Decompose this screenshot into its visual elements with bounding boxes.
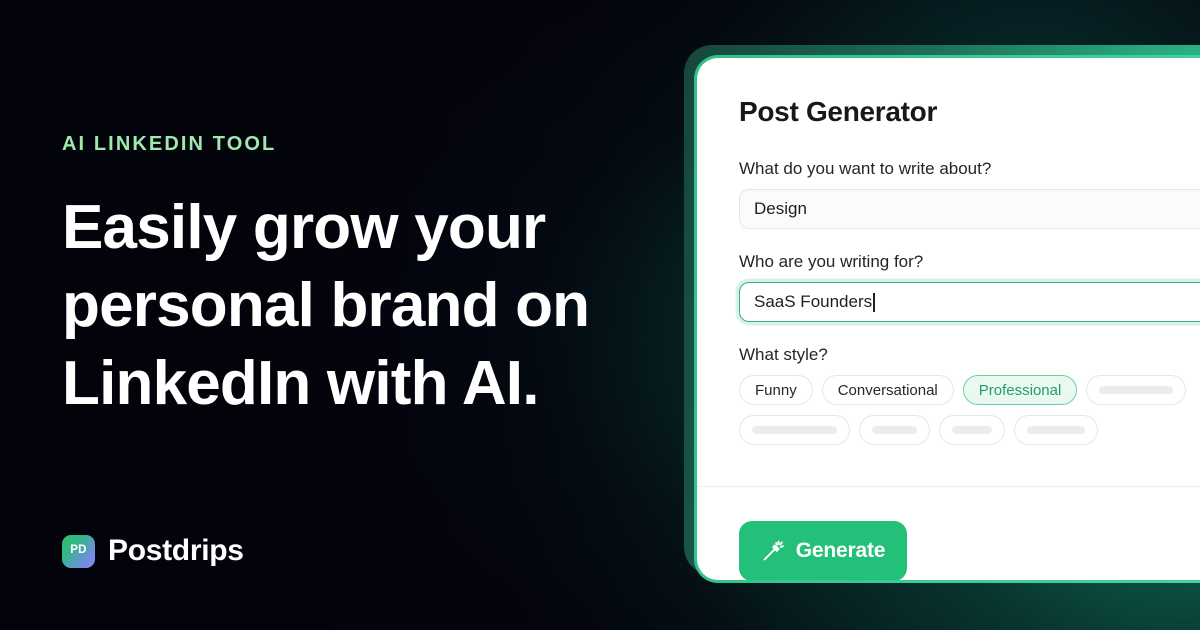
field-label-topic: What do you want to write about?	[739, 159, 1200, 179]
topic-input-value: Design	[754, 199, 807, 219]
topic-input[interactable]: Design	[739, 189, 1200, 229]
audience-input-value: SaaS Founders	[754, 292, 872, 312]
skeleton-bar	[952, 426, 992, 434]
skeleton-bar	[752, 426, 837, 434]
style-chip-placeholder[interactable]	[739, 415, 850, 445]
style-chip-label: Funny	[755, 382, 797, 399]
generate-button[interactable]: Generate	[739, 521, 907, 580]
generate-button-label: Generate	[796, 539, 885, 563]
brand-logo[interactable]: PD Postdrips	[62, 534, 244, 568]
card-title: Post Generator	[739, 96, 1200, 128]
skeleton-bar	[1099, 386, 1173, 394]
audience-input[interactable]: SaaS Founders	[739, 282, 1200, 322]
style-chip-row-1: FunnyConversationalProfessional	[739, 375, 1200, 405]
magic-wand-icon	[761, 539, 785, 563]
text-cursor	[873, 293, 875, 312]
style-chip-row-2	[739, 415, 1200, 445]
style-chip-label: Conversational	[838, 382, 938, 399]
post-generator-card: Post Generator What do you want to write…	[697, 58, 1200, 580]
style-chip-label: Professional	[979, 382, 1062, 399]
style-chip-placeholder[interactable]	[859, 415, 930, 445]
hero-text-column: AI LINKEDIN TOOL Easily grow your person…	[62, 0, 662, 630]
post-generator-card-wrapper: Post Generator What do you want to write…	[684, 45, 1200, 590]
promo-banner: AI LINKEDIN TOOL Easily grow your person…	[0, 0, 1200, 630]
logo-mark-text: PD	[70, 545, 86, 557]
hero-eyebrow: AI LINKEDIN TOOL	[62, 133, 276, 156]
field-label-style: What style?	[739, 345, 1200, 365]
style-chip-professional[interactable]: Professional	[963, 375, 1078, 405]
style-chip-conversational[interactable]: Conversational	[822, 375, 954, 405]
style-chip-placeholder[interactable]	[939, 415, 1005, 445]
style-chip-placeholder[interactable]	[1086, 375, 1186, 405]
skeleton-bar	[1027, 426, 1085, 434]
field-label-audience: Who are you writing for?	[739, 252, 1200, 272]
hero-headline: Easily grow your personal brand on Linke…	[62, 189, 662, 423]
style-chip-group: FunnyConversationalProfessional	[739, 375, 1200, 445]
brand-name: Postdrips	[108, 534, 244, 568]
postdrips-logo-icon: PD	[62, 535, 95, 568]
card-footer: Generate	[739, 521, 907, 580]
card-divider	[697, 486, 1200, 487]
skeleton-bar	[872, 426, 917, 434]
style-chip-funny[interactable]: Funny	[739, 375, 813, 405]
style-chip-placeholder[interactable]	[1014, 415, 1098, 445]
